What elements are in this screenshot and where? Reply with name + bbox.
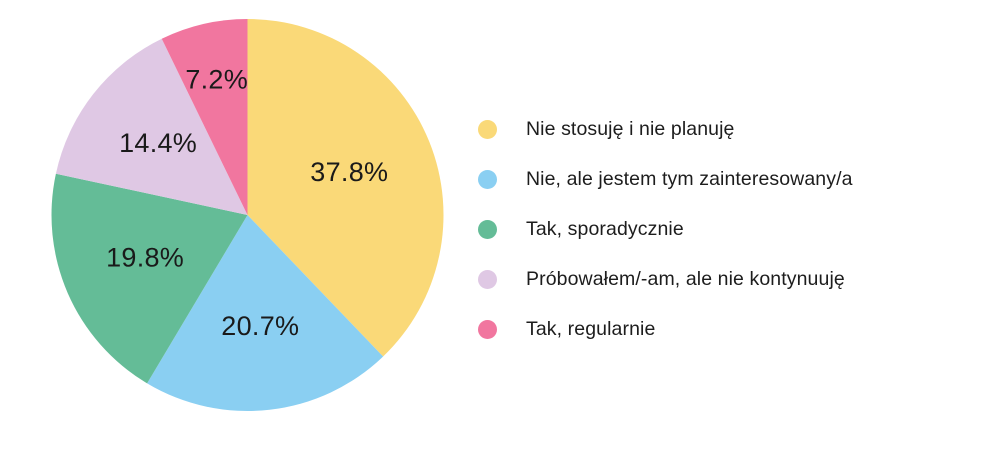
- legend-label-4: Tak, regularnie: [526, 318, 655, 341]
- pie-plot-area: 37.8% 20.7% 19.8% 14.4% 7.2%: [0, 0, 470, 459]
- legend-swatch-icon-3: [478, 270, 497, 289]
- legend-label-0: Nie stosuję i nie planuję: [526, 118, 734, 141]
- legend-swatch-icon-1: [478, 170, 497, 189]
- legend-item-2[interactable]: Tak, sporadycznie: [478, 204, 983, 254]
- slice-value-label-4: 7.2%: [185, 64, 248, 94]
- slice-value-label-2: 19.8%: [106, 243, 184, 273]
- legend-swatch-icon-0: [478, 120, 497, 139]
- slice-value-label-1: 20.7%: [221, 311, 299, 341]
- legend-swatch-icon-2: [478, 220, 497, 239]
- legend-label-2: Tak, sporadycznie: [526, 218, 684, 241]
- pie-chart-figure: 37.8% 20.7% 19.8% 14.4% 7.2% Nie stosuję…: [0, 0, 990, 459]
- legend-item-3[interactable]: Próbowałem/-am, ale nie kontynuuję: [478, 254, 983, 304]
- legend-label-1: Nie, ale jestem tym zainteresowany/a: [526, 168, 853, 191]
- legend-item-1[interactable]: Nie, ale jestem tym zainteresowany/a: [478, 154, 983, 204]
- legend-item-4[interactable]: Tak, regularnie: [478, 304, 983, 354]
- slice-value-label-0: 37.8%: [310, 157, 388, 187]
- legend-swatch-icon-4: [478, 320, 497, 339]
- legend-item-0[interactable]: Nie stosuję i nie planuję: [478, 104, 983, 154]
- legend-label-3: Próbowałem/-am, ale nie kontynuuję: [526, 268, 845, 291]
- slice-value-label-3: 14.4%: [119, 128, 197, 158]
- pie-svg: 37.8% 20.7% 19.8% 14.4% 7.2%: [0, 0, 470, 459]
- chart-legend: Nie stosuję i nie planuję Nie, ale jeste…: [478, 104, 983, 354]
